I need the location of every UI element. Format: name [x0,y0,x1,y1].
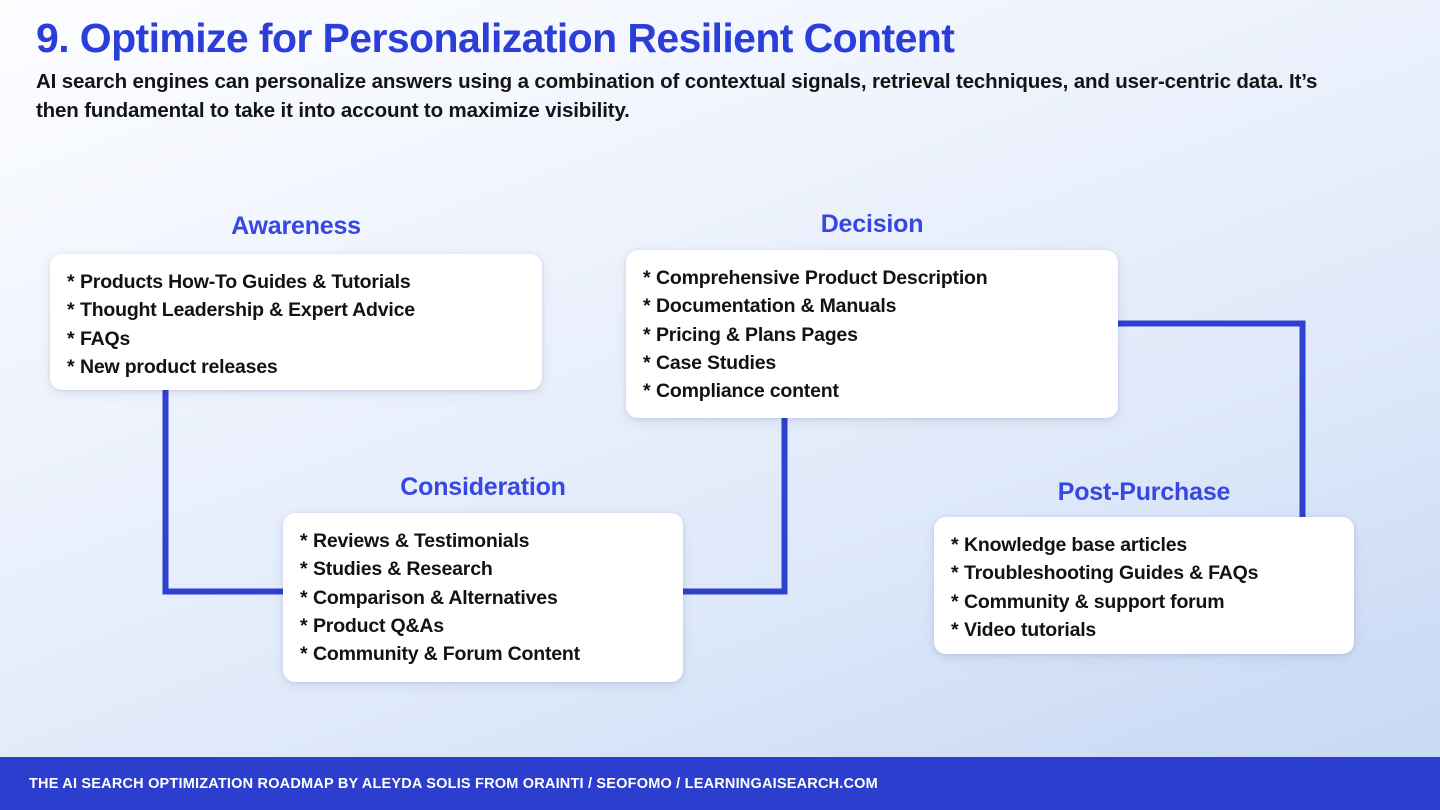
footer-credit-text: THE AI SEARCH OPTIMIZATION ROADMAP BY AL… [29,776,878,792]
list-item: *Pricing & Plans Pages [643,321,1100,349]
bullet-star-icon: * [951,559,964,587]
list-item: *Product Q&As [300,612,665,640]
list-item-label: Video tutorials [964,619,1096,641]
stage-card-post-purchase: *Knowledge base articles *Troubleshootin… [934,517,1354,654]
funnel-diagram: Awareness *Products How-To Guides & Tuto… [0,0,1440,757]
list-item: *Comparison & Alternatives [300,584,665,612]
stage-card-decision: *Comprehensive Product Description *Docu… [626,250,1118,418]
list-item: *Studies & Research [300,555,665,583]
bullet-star-icon: * [643,377,656,405]
list-item-label: Reviews & Testimonials [313,530,529,552]
stage-label-post-purchase: Post-Purchase [934,478,1354,507]
list-item: *Video tutorials [951,616,1336,644]
list-item-label: Case Studies [656,352,776,374]
list-item-label: Comprehensive Product Description [656,267,987,289]
bullet-star-icon: * [643,264,656,292]
list-item: *Community & support forum [951,588,1336,616]
bullet-star-icon: * [67,325,80,353]
bullet-star-icon: * [300,584,313,612]
list-item-label: Community & support forum [964,591,1224,613]
bullet-star-icon: * [643,321,656,349]
list-item-label: Studies & Research [313,558,493,580]
list-item: *Compliance content [643,377,1100,405]
stage-list-post-purchase: *Knowledge base articles *Troubleshootin… [951,531,1336,644]
bullet-star-icon: * [300,612,313,640]
connector-consideration-to-decision [683,418,785,592]
list-item: *Community & Forum Content [300,640,665,668]
bullet-star-icon: * [300,555,313,583]
list-item-label: Thought Leadership & Expert Advice [80,299,415,321]
bullet-star-icon: * [300,527,313,555]
connector-awareness-to-consideration [166,390,284,592]
stage-card-consideration: *Reviews & Testimonials *Studies & Resea… [283,513,683,682]
stage-label-awareness: Awareness [50,212,542,241]
stage-list-decision: *Comprehensive Product Description *Docu… [643,264,1100,406]
bullet-star-icon: * [643,292,656,320]
bullet-star-icon: * [67,353,80,381]
list-item: *Comprehensive Product Description [643,264,1100,292]
list-item: *Knowledge base articles [951,531,1336,559]
list-item: *Thought Leadership & Expert Advice [67,296,524,324]
bullet-star-icon: * [951,588,964,616]
list-item-label: Pricing & Plans Pages [656,324,858,346]
bullet-star-icon: * [951,616,964,644]
list-item: *Products How-To Guides & Tutorials [67,268,524,296]
stage-label-decision: Decision [626,210,1118,239]
slide-canvas: 9. Optimize for Personalization Resilien… [0,0,1440,810]
stage-list-awareness: *Products How-To Guides & Tutorials *Tho… [67,268,524,381]
bullet-star-icon: * [951,531,964,559]
list-item-label: Community & Forum Content [313,643,580,665]
stage-list-consideration: *Reviews & Testimonials *Studies & Resea… [300,527,665,669]
list-item: *Reviews & Testimonials [300,527,665,555]
list-item-label: New product releases [80,356,278,378]
bullet-star-icon: * [643,349,656,377]
footer-bar: THE AI SEARCH OPTIMIZATION ROADMAP BY AL… [0,757,1440,810]
list-item: *Case Studies [643,349,1100,377]
bullet-star-icon: * [67,268,80,296]
list-item: *FAQs [67,325,524,353]
list-item-label: Comparison & Alternatives [313,587,558,609]
list-item: *Troubleshooting Guides & FAQs [951,559,1336,587]
stage-card-awareness: *Products How-To Guides & Tutorials *Tho… [50,254,542,390]
bullet-star-icon: * [300,640,313,668]
list-item-label: Knowledge base articles [964,534,1187,556]
list-item-label: Documentation & Manuals [656,295,896,317]
list-item-label: Product Q&As [313,615,444,637]
list-item-label: Troubleshooting Guides & FAQs [964,562,1258,584]
list-item-label: Products How-To Guides & Tutorials [80,271,411,293]
stage-label-consideration: Consideration [283,473,683,502]
list-item: *New product releases [67,353,524,381]
list-item: *Documentation & Manuals [643,292,1100,320]
list-item-label: FAQs [80,328,130,350]
bullet-star-icon: * [67,296,80,324]
list-item-label: Compliance content [656,380,839,402]
